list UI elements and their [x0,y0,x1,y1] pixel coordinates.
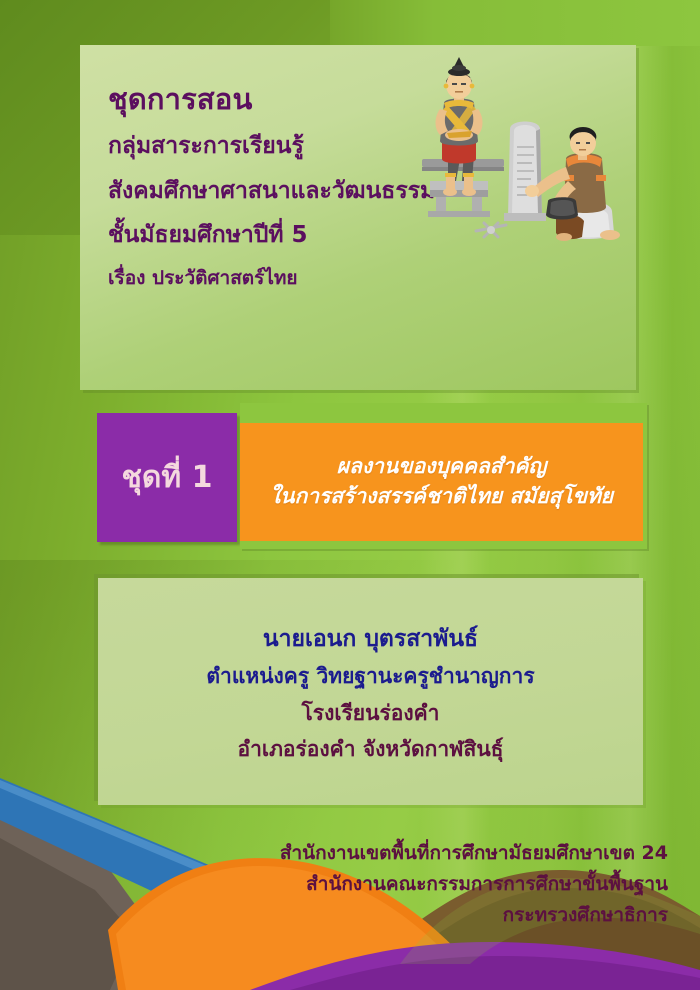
author-name: นายเอนก บุตรสาพันธ์ [263,621,478,658]
header-card: ชุดการสอน กลุ่มสาระการเรียนรู้ สังคมศึกษ… [80,45,636,390]
footer-line-3: กระทรวงศึกษาธิการ [28,900,668,931]
author-school: โรงเรียนร่องคำ [302,695,440,732]
footer-line-1: สำนักงานเขตพื้นที่การศึกษามัธยมศึกษาเขต … [28,838,668,869]
sukhothai-king-and-scribe-illustration [414,55,628,275]
banner-line-1: ผลงานของบุคคลสำคัญ [337,452,547,482]
footer-line-2: สำนักงานคณะกรรมการการศึกษาขั้นพื้นฐาน [28,869,668,900]
author-position: ตำแหน่งครู วิทยฐานะครูชำนาญการ [206,658,534,695]
set-number-label: ชุดที่ 1 [122,463,213,493]
set-number-box: ชุดที่ 1 [97,413,237,542]
banner-line-2: ในการสร้างสรรค์ชาติไทย สมัยสุโขทัย [270,482,613,512]
author-card: นายเอนก บุตรสาพันธ์ ตำแหน่งครู วิทยฐานะค… [98,578,643,805]
footer-block: สำนักงานเขตพื้นที่การศึกษามัธยมศึกษาเขต … [28,838,668,930]
cover-page: ชุดการสอน กลุ่มสาระการเรียนรู้ สังคมศึกษ… [0,0,700,990]
set-banner-row: ชุดที่ 1 ผลงานของบุคคลสำคัญ ในการสร้างสร… [97,413,647,546]
orange-banner-frame: ผลงานของบุคคลสำคัญ ในการสร้างสรรค์ชาติไท… [240,403,647,549]
orange-banner: ผลงานของบุคคลสำคัญ ในการสร้างสรรค์ชาติไท… [240,423,643,541]
author-district: อำเภอร่องคำ จังหวัดกาฬสินธุ์ [237,731,503,768]
